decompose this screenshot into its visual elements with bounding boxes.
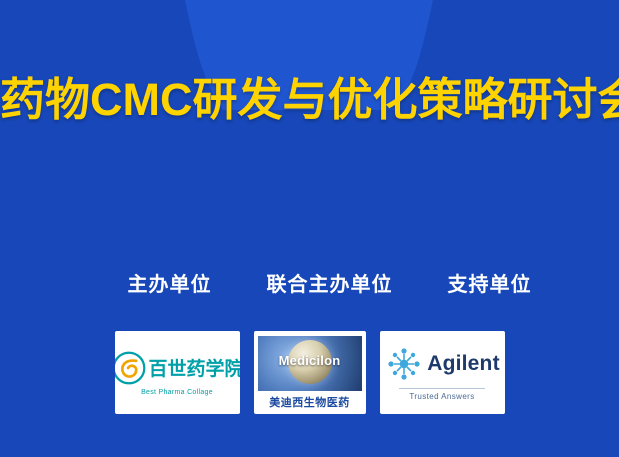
agilent-burst-icon [384,344,424,384]
logo-b-name-cn: 美迪西生物医药 [269,394,350,410]
logo-a-name-en: Best Pharma Collage [141,389,213,396]
logo-c-name-en: Agilent [427,352,500,376]
logo-best-pharma-college: 百世药学院 Best Pharma Collage [115,331,240,414]
logo-c-tagline: Trusted Answers [399,388,485,401]
organizer-labels: 主办单位 联合主办单位 支持单位 [0,268,619,297]
organizer-label-supporter: 支持单位 [415,268,565,297]
logo-a-name-cn: 百世药学院 [149,354,240,381]
logo-b-name-en: Medicilon [258,353,362,368]
logo-a-row: 百世药学院 [115,350,240,386]
page-title: 药物CMC研发与优化策略研讨会 [0,74,619,126]
logo-c-row: Agilent [384,344,500,384]
logo-b-image: Medicilon [258,336,362,391]
organizer-label-co-host: 联合主办单位 [245,268,415,297]
logo-row: 百世药学院 Best Pharma Collage Medicilon 美迪西生… [0,331,619,414]
swirl-icon [115,350,147,386]
logo-medicilon: Medicilon 美迪西生物医药 [254,331,366,414]
poster: 药物CMC研发与优化策略研讨会 主办单位 联合主办单位 支持单位 百世药学院 B… [0,0,619,457]
logo-agilent: Agilent Trusted Answers [380,331,505,414]
organizer-label-host: 主办单位 [95,268,245,297]
